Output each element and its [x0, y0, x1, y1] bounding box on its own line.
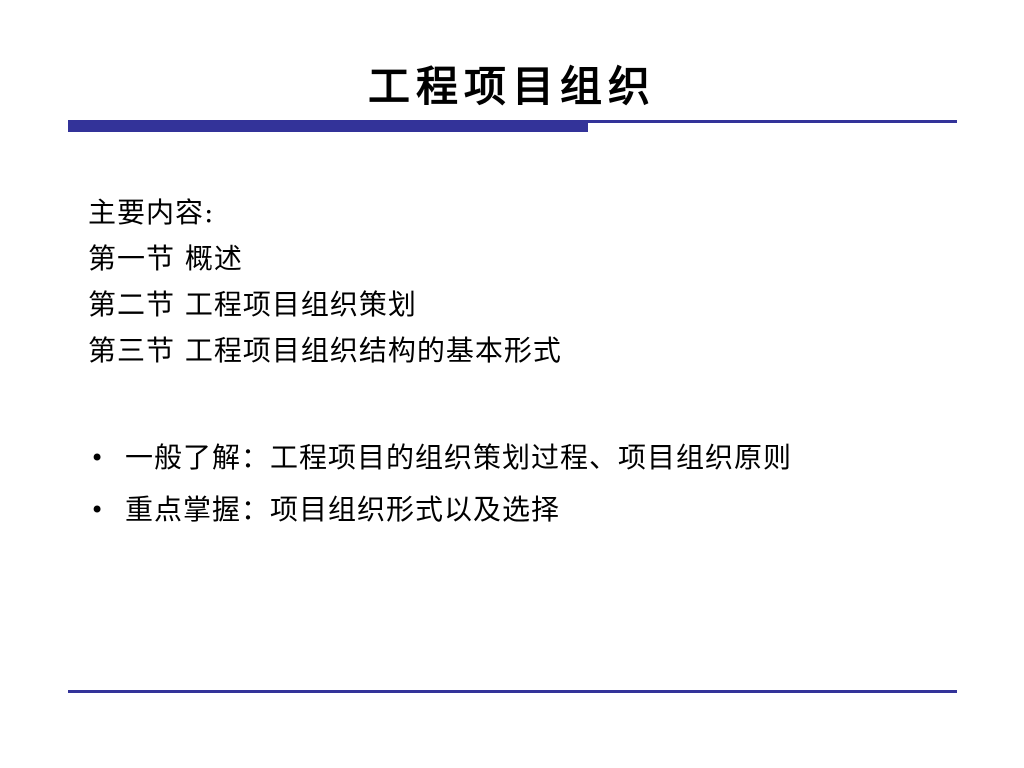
title-divider-thick-bar [68, 120, 588, 132]
objective-general-understanding: 一般了解：工程项目的组织策划过程、项目组织原则 [125, 437, 988, 479]
footer-divider [68, 690, 957, 693]
title-divider [68, 120, 957, 132]
outline-line-section-2: 第二节 工程项目组织策划 [88, 282, 968, 328]
outline-text-block: 主要内容: 第一节 概述 第二节 工程项目组织策划 第三节 工程项目组织结构的基… [88, 190, 968, 374]
title-divider-thin-line [588, 120, 957, 123]
list-item: • 一般了解：工程项目的组织策划过程、项目组织原则 [88, 437, 988, 489]
bullet-point-icon: • [88, 489, 125, 531]
list-item: • 重点掌握：项目组织形式以及选择 [88, 489, 988, 541]
outline-line-section-1: 第一节 概述 [88, 236, 968, 282]
outline-line-heading: 主要内容: [88, 190, 968, 236]
slide-title: 工程项目组织 [0, 62, 1024, 112]
outline-line-section-3: 第三节 工程项目组织结构的基本形式 [88, 328, 968, 374]
objective-key-mastery: 重点掌握：项目组织形式以及选择 [125, 489, 988, 531]
bullet-point-icon: • [88, 437, 125, 479]
presentation-slide: 工程项目组织 主要内容: 第一节 概述 第二节 工程项目组织策划 第三节 工程项… [0, 0, 1024, 768]
objectives-bullet-list: • 一般了解：工程项目的组织策划过程、项目组织原则 • 重点掌握：项目组织形式以… [88, 437, 988, 541]
